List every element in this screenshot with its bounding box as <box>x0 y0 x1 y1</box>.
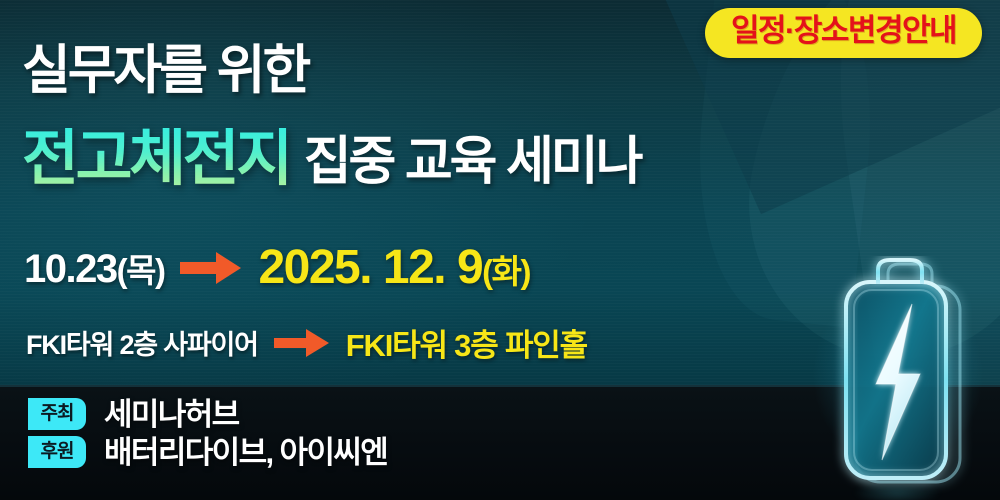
change-notice-label: 일정·장소변경안내 <box>731 15 956 48</box>
new-date: 2025. 12. 9(화) <box>258 240 530 295</box>
credit-row-sponsor: 후원 배터리다이브, 아이씨엔 <box>28 436 387 468</box>
host-name: 세미나허브 <box>104 399 239 430</box>
title-highlight: 전고체전지 <box>22 128 290 190</box>
date-change-row: 10.23(목) 2025. 12. 9(화) <box>24 240 530 295</box>
title-rest: 집중 교육 세미나 <box>304 136 641 188</box>
arrow-right-icon <box>180 251 242 285</box>
old-date: 10.23(목) <box>24 244 164 292</box>
old-date-value: 10.23 <box>24 247 117 291</box>
page-title: 전고체전지 집중 교육 세미나 <box>22 128 640 190</box>
battery-lightning-icon <box>820 256 976 500</box>
kicker-text: 실무자를 위한 <box>22 44 308 97</box>
old-venue: FKI타워 2층 사파이어 <box>26 323 258 362</box>
venue-change-row: FKI타워 2층 사파이어 FKI타워 3층 파인홀 <box>26 320 587 365</box>
credits-block: 주최 세미나허브 후원 배터리다이브, 아이씨엔 <box>28 398 387 474</box>
arrow-right-icon <box>274 328 330 358</box>
change-notice-badge: 일정·장소변경안내 <box>705 8 982 58</box>
credit-row-host: 주최 세미나허브 <box>28 398 387 430</box>
new-date-weekday: (화) <box>482 253 530 290</box>
battery-reflection <box>834 486 960 500</box>
old-date-weekday: (목) <box>117 252 165 289</box>
host-tag: 주최 <box>28 398 86 430</box>
battery-svg <box>820 256 976 500</box>
new-venue: FKI타워 3층 파인홀 <box>346 320 587 365</box>
seminar-banner: 일정·장소변경안내 실무자를 위한 전고체전지 집중 교육 세미나 10.23(… <box>0 0 1000 500</box>
sponsor-name: 배터리다이브, 아이씨엔 <box>104 437 387 468</box>
sponsor-tag: 후원 <box>28 436 86 468</box>
new-date-value: 2025. 12. 9 <box>258 241 482 294</box>
